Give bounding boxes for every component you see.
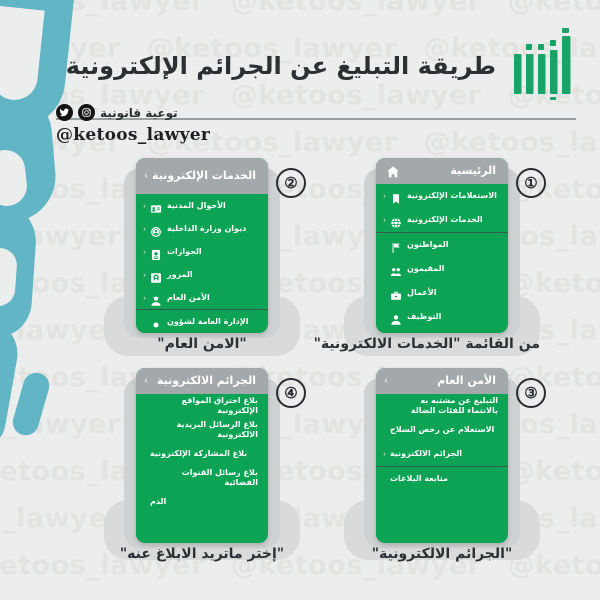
chevron-left-icon[interactable]: ‹ <box>383 216 386 225</box>
menu-item[interactable]: الجرائم الالكترونية‹ <box>376 442 508 466</box>
menu-item[interactable]: الاستعلام عن رخص السلاح <box>376 418 508 442</box>
globe-icon <box>390 214 402 226</box>
menu-item-label: المواطنون <box>407 240 449 250</box>
menu-item-label: بلاغ المشاركة الإلكترونية <box>150 449 247 459</box>
step-caption-1: من القائمة "الخدمات الالكترونية" <box>344 336 540 352</box>
menu-item[interactable]: الدم <box>136 490 268 514</box>
chevron-left-icon[interactable]: ‹ <box>143 293 146 302</box>
chevron-left-icon[interactable]: › <box>144 171 148 182</box>
menu-item[interactable]: الأحوال المدنية‹ <box>136 194 268 217</box>
panel-3-title-bar[interactable]: الأمن العام› <box>376 368 508 394</box>
menu-item[interactable]: الاستعلامات الإلكترونية‹ <box>376 184 508 208</box>
user-icon <box>390 311 402 323</box>
chevron-left-icon[interactable]: ‹ <box>143 201 146 210</box>
step-caption-2: "الامن العام" <box>104 336 300 352</box>
menu-item[interactable]: ديوان وزارة الداخلية‹ <box>136 217 268 240</box>
chevron-left-icon[interactable]: › <box>384 376 388 387</box>
step-caption-4: "إختر ماتريد الابلاغ عنه" <box>104 546 300 562</box>
header: طريقة التبليغ عن الجرائم الإلكترونية توع… <box>0 0 600 152</box>
flag-icon <box>390 239 402 251</box>
menu-item-label: متابعة البلاغات <box>390 474 448 484</box>
teal-shape-c <box>0 198 39 341</box>
traffic-icon <box>150 269 162 281</box>
home-icon <box>386 164 400 178</box>
panel-2-screen: الخدمات الإلكترونية›الأحوال المدنية‹ديوا… <box>136 158 268 333</box>
panel-1-title-bar[interactable]: الرئيسية <box>376 158 508 184</box>
menu-item[interactable]: بلاغ اختراق المواقع الإلكترونية <box>136 394 268 418</box>
menu-item[interactable]: التبليغ عن مشتبه به بالانتماء للفئات الض… <box>376 394 508 418</box>
menu-item[interactable]: الإدارة العامة لشؤون <box>136 310 268 333</box>
panel-4-menu: بلاغ اختراق المواقع الإلكترونيةبلاغ الرس… <box>136 394 268 514</box>
panel-3-screen: الأمن العام›التبليغ عن مشتبه به بالانتما… <box>376 368 508 543</box>
menu-item-label: الأعمال <box>407 288 436 298</box>
panel-3-title: الأمن العام <box>386 375 498 388</box>
menu-item[interactable]: المقيمون <box>376 257 508 281</box>
menu-item[interactable]: متابعة البلاغات <box>376 467 508 491</box>
menu-item[interactable]: بلاغ رسائل القنوات الفضائية <box>136 466 268 490</box>
step-number-2: ② <box>276 168 306 198</box>
twitter-icon[interactable] <box>56 104 73 121</box>
chevron-left-icon[interactable]: ‹ <box>143 247 146 256</box>
menu-item-label: التوظيف <box>407 312 441 322</box>
officer-icon <box>150 292 162 304</box>
menu-item-label: المقيمون <box>407 264 444 274</box>
menu-item-label: الجوازات <box>167 247 202 257</box>
menu-item[interactable]: المرور‹ <box>136 263 268 286</box>
panel-1-title: الرئيسية <box>404 165 498 178</box>
panel-3-menu: التبليغ عن مشتبه به بالانتماء للفئات الض… <box>376 394 508 491</box>
brand-row: توعية قانونية <box>56 104 178 121</box>
page-title: طريقة التبليغ عن الجرائم الإلكترونية <box>66 52 496 80</box>
teal-shape-e <box>10 370 53 439</box>
chevron-left-icon[interactable]: ‹ <box>383 450 386 459</box>
seal-icon <box>150 223 162 235</box>
menu-item-label: الخدمات الإلكترونية <box>407 215 483 225</box>
step-caption-3: "الجرائم الالكترونية" <box>344 546 540 562</box>
menu-item[interactable]: التوظيف <box>376 305 508 329</box>
menu-item[interactable]: الجوازات‹ <box>136 240 268 263</box>
menu-item[interactable]: الأعمال <box>376 281 508 305</box>
id-card-icon <box>150 200 162 212</box>
menu-item-label: الأمن العام <box>167 293 210 303</box>
briefcase-icon <box>390 287 402 299</box>
teal-cutout-3 <box>0 247 18 307</box>
menu-item-label: المرور <box>167 270 193 280</box>
menu-item[interactable]: الخدمات الإلكترونية‹ <box>376 208 508 232</box>
panel-4-screen: الجرائم الالكترونية›بلاغ اختراق المواقع … <box>136 368 268 543</box>
chevron-left-icon[interactable]: ‹ <box>143 270 146 279</box>
menu-item[interactable]: الأمن العام‹ <box>136 286 268 309</box>
teal-cutout-2 <box>0 148 29 208</box>
menu-item-label: الأحوال المدنية <box>167 201 226 211</box>
menu-item-label: الاستعلام عن رخص السلاح <box>390 425 494 435</box>
panel-2-menu: الأحوال المدنية‹ديوان وزارة الداخلية‹الج… <box>136 194 268 333</box>
panel-1-screen: الرئيسيةالاستعلامات الإلكترونية‹الخدمات … <box>376 158 508 333</box>
menu-item[interactable]: المواطنون <box>376 233 508 257</box>
menu-item[interactable]: بلاغ المشاركة الإلكترونية <box>136 442 268 466</box>
instagram-icon[interactable] <box>78 104 95 121</box>
panel-2-title: الخدمات الإلكترونية <box>146 170 258 183</box>
panel-4-title-bar[interactable]: الجرائم الالكترونية› <box>136 368 268 394</box>
teal-shape-d <box>0 316 23 454</box>
step-number-4: ④ <box>276 378 306 408</box>
panel-4-title: الجرائم الالكترونية <box>146 375 258 388</box>
menu-item-label: بلاغ الرسائل البريدية الالكترونية <box>150 420 258 440</box>
menu-item-label: بلاغ رسائل القنوات الفضائية <box>150 468 258 488</box>
step-number-3: ③ <box>516 378 546 408</box>
passport-icon <box>150 246 162 258</box>
absher-logo-icon <box>510 28 582 100</box>
bookmark-icon <box>390 190 402 202</box>
dot-icon <box>150 316 162 328</box>
infographic-canvas: @ketoos_lawyer@ketoos_lawyer@ketoos_lawy… <box>0 0 600 600</box>
panel-1-menu: الاستعلامات الإلكترونية‹الخدمات الإلكترو… <box>376 184 508 329</box>
chevron-left-icon[interactable]: ‹ <box>383 192 386 201</box>
brand-tagline: توعية قانونية <box>100 106 178 120</box>
menu-item-label: بلاغ اختراق المواقع الإلكترونية <box>150 396 258 416</box>
menu-item-label: الإدارة العامة لشؤون <box>167 317 248 327</box>
menu-item-label: التبليغ عن مشتبه به بالانتماء للفئات الض… <box>390 396 498 416</box>
menu-item-label: الجرائم الالكترونية <box>390 449 462 459</box>
panel-2-title-bar[interactable]: الخدمات الإلكترونية› <box>136 158 268 194</box>
menu-item-label: الدم <box>150 497 166 507</box>
menu-item-label: ديوان وزارة الداخلية <box>167 224 246 234</box>
people-icon <box>390 263 402 275</box>
menu-item-label: الاستعلامات الإلكترونية <box>407 191 497 201</box>
chevron-left-icon[interactable]: › <box>144 376 148 387</box>
menu-item[interactable]: بلاغ الرسائل البريدية الالكترونية <box>136 418 268 442</box>
step-number-1: ① <box>516 168 546 198</box>
social-handle: @ketoos_lawyer <box>56 125 210 145</box>
chevron-left-icon[interactable]: ‹ <box>143 224 146 233</box>
